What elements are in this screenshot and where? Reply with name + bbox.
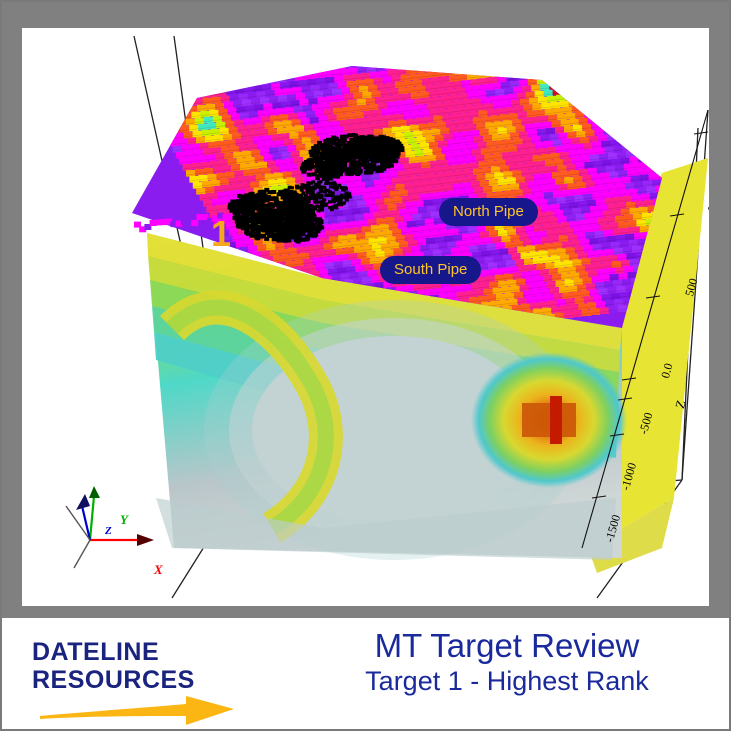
axis-label-x: X	[154, 562, 163, 578]
logo-line-dateline: DATELINE	[32, 640, 159, 665]
page-subtitle: Target 1 - Highest Rank	[302, 666, 712, 697]
footer-title-block: MT Target Review Target 1 - Highest Rank	[302, 628, 712, 697]
page-title: MT Target Review	[302, 628, 712, 665]
axis-label-y: Y	[120, 512, 128, 528]
label-target-number: 1	[211, 213, 231, 255]
right-arrow-icon	[38, 694, 238, 728]
axis-label-z: Z	[105, 525, 112, 537]
footer-bar: DATELINE RESOURCES MT Target Review Targ…	[2, 618, 729, 729]
mt-3d-block-model[interactable]: 1500 1000 500 0.0 -500 -1000 -1500 Z X Y…	[22, 28, 709, 606]
dateline-resources-logo[interactable]: DATELINE RESOURCES	[28, 636, 243, 722]
label-south-pipe[interactable]: South Pipe	[380, 256, 481, 284]
logo-line-resources: RESOURCES	[32, 668, 195, 693]
screenshot-root: 1500 1000 500 0.0 -500 -1000 -1500 Z X Y…	[0, 0, 731, 731]
label-north-pipe[interactable]: North Pipe	[439, 198, 538, 226]
